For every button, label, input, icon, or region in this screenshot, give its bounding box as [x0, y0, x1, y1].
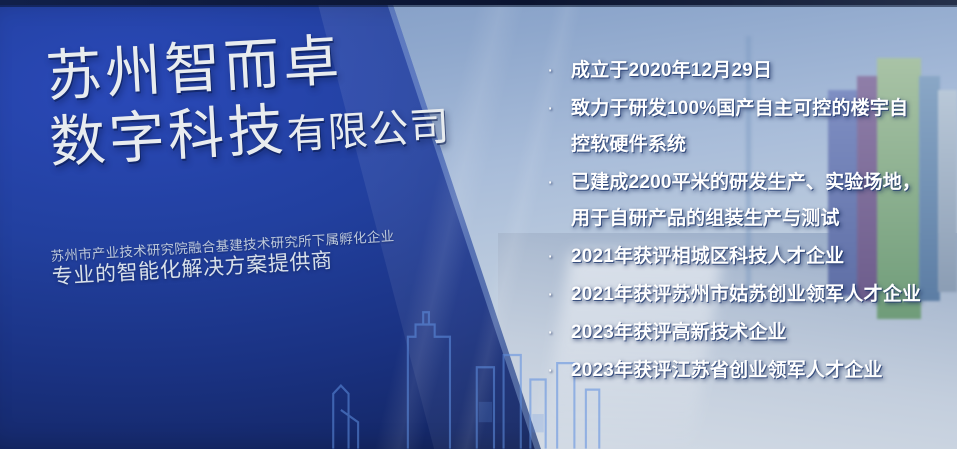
- list-item-text: 2023年获评高新技术企业: [571, 315, 947, 351]
- list-item: · 2023年获评江苏省创业领军人才企业: [547, 353, 947, 389]
- company-highlights-list: · 成立于2020年12月29日 · 致力于研发100%国产自主可控的楼宇自 控…: [547, 53, 947, 391]
- list-item-text-continuation: 控软硬件系统: [571, 127, 947, 163]
- list-item-text-primary: 已建成2200平米的研发生产、实验场地，: [571, 172, 921, 193]
- list-item: · 2021年获评苏州市姑苏创业领军人才企业: [547, 277, 947, 313]
- bullet-dot-icon: ·: [547, 315, 571, 351]
- list-item: · 2021年获评相城区科技人才企业: [547, 239, 947, 275]
- list-item: · 致力于研发100%国产自主可控的楼宇自 控软硬件系统: [547, 91, 947, 163]
- bullet-dot-icon: ·: [547, 165, 571, 201]
- list-item-text-primary: 致力于研发100%国产自主可控的楼宇自: [571, 98, 908, 119]
- list-item: · 已建成2200平米的研发生产、实验场地， 用于自研产品的组装生产与测试: [547, 165, 947, 237]
- list-item-text: 2021年获评苏州市姑苏创业领军人才企业: [571, 277, 947, 313]
- bullet-dot-icon: ·: [547, 353, 571, 389]
- list-item-text-continuation: 用于自研产品的组装生产与测试: [571, 201, 947, 237]
- list-item-text: 成立于2020年12月29日: [571, 53, 947, 89]
- bullet-dot-icon: ·: [547, 53, 571, 89]
- list-item-text: 致力于研发100%国产自主可控的楼宇自 控软硬件系统: [571, 91, 947, 163]
- bullet-dot-icon: ·: [547, 277, 571, 313]
- bullet-dot-icon: ·: [547, 239, 571, 275]
- company-name-line-2-tail: 有限公司: [286, 104, 451, 157]
- top-letterbox-edge-shadow: [0, 5, 957, 7]
- list-item: · 2023年获评高新技术企业: [547, 315, 947, 351]
- list-item-text: 已建成2200平米的研发生产、实验场地， 用于自研产品的组装生产与测试: [571, 165, 947, 237]
- slide-canvas: 苏州智而卓 数字科技有限公司 苏州市产业技术研究院融合基建技术研究所下属孵化企业…: [0, 0, 957, 449]
- bullet-dot-icon: ·: [547, 91, 571, 127]
- list-item: · 成立于2020年12月29日: [547, 53, 947, 89]
- list-item-text: 2021年获评相城区科技人才企业: [571, 239, 947, 275]
- list-item-text: 2023年获评江苏省创业领军人才企业: [571, 353, 947, 389]
- company-name-line-2-main: 数字科技: [48, 98, 289, 174]
